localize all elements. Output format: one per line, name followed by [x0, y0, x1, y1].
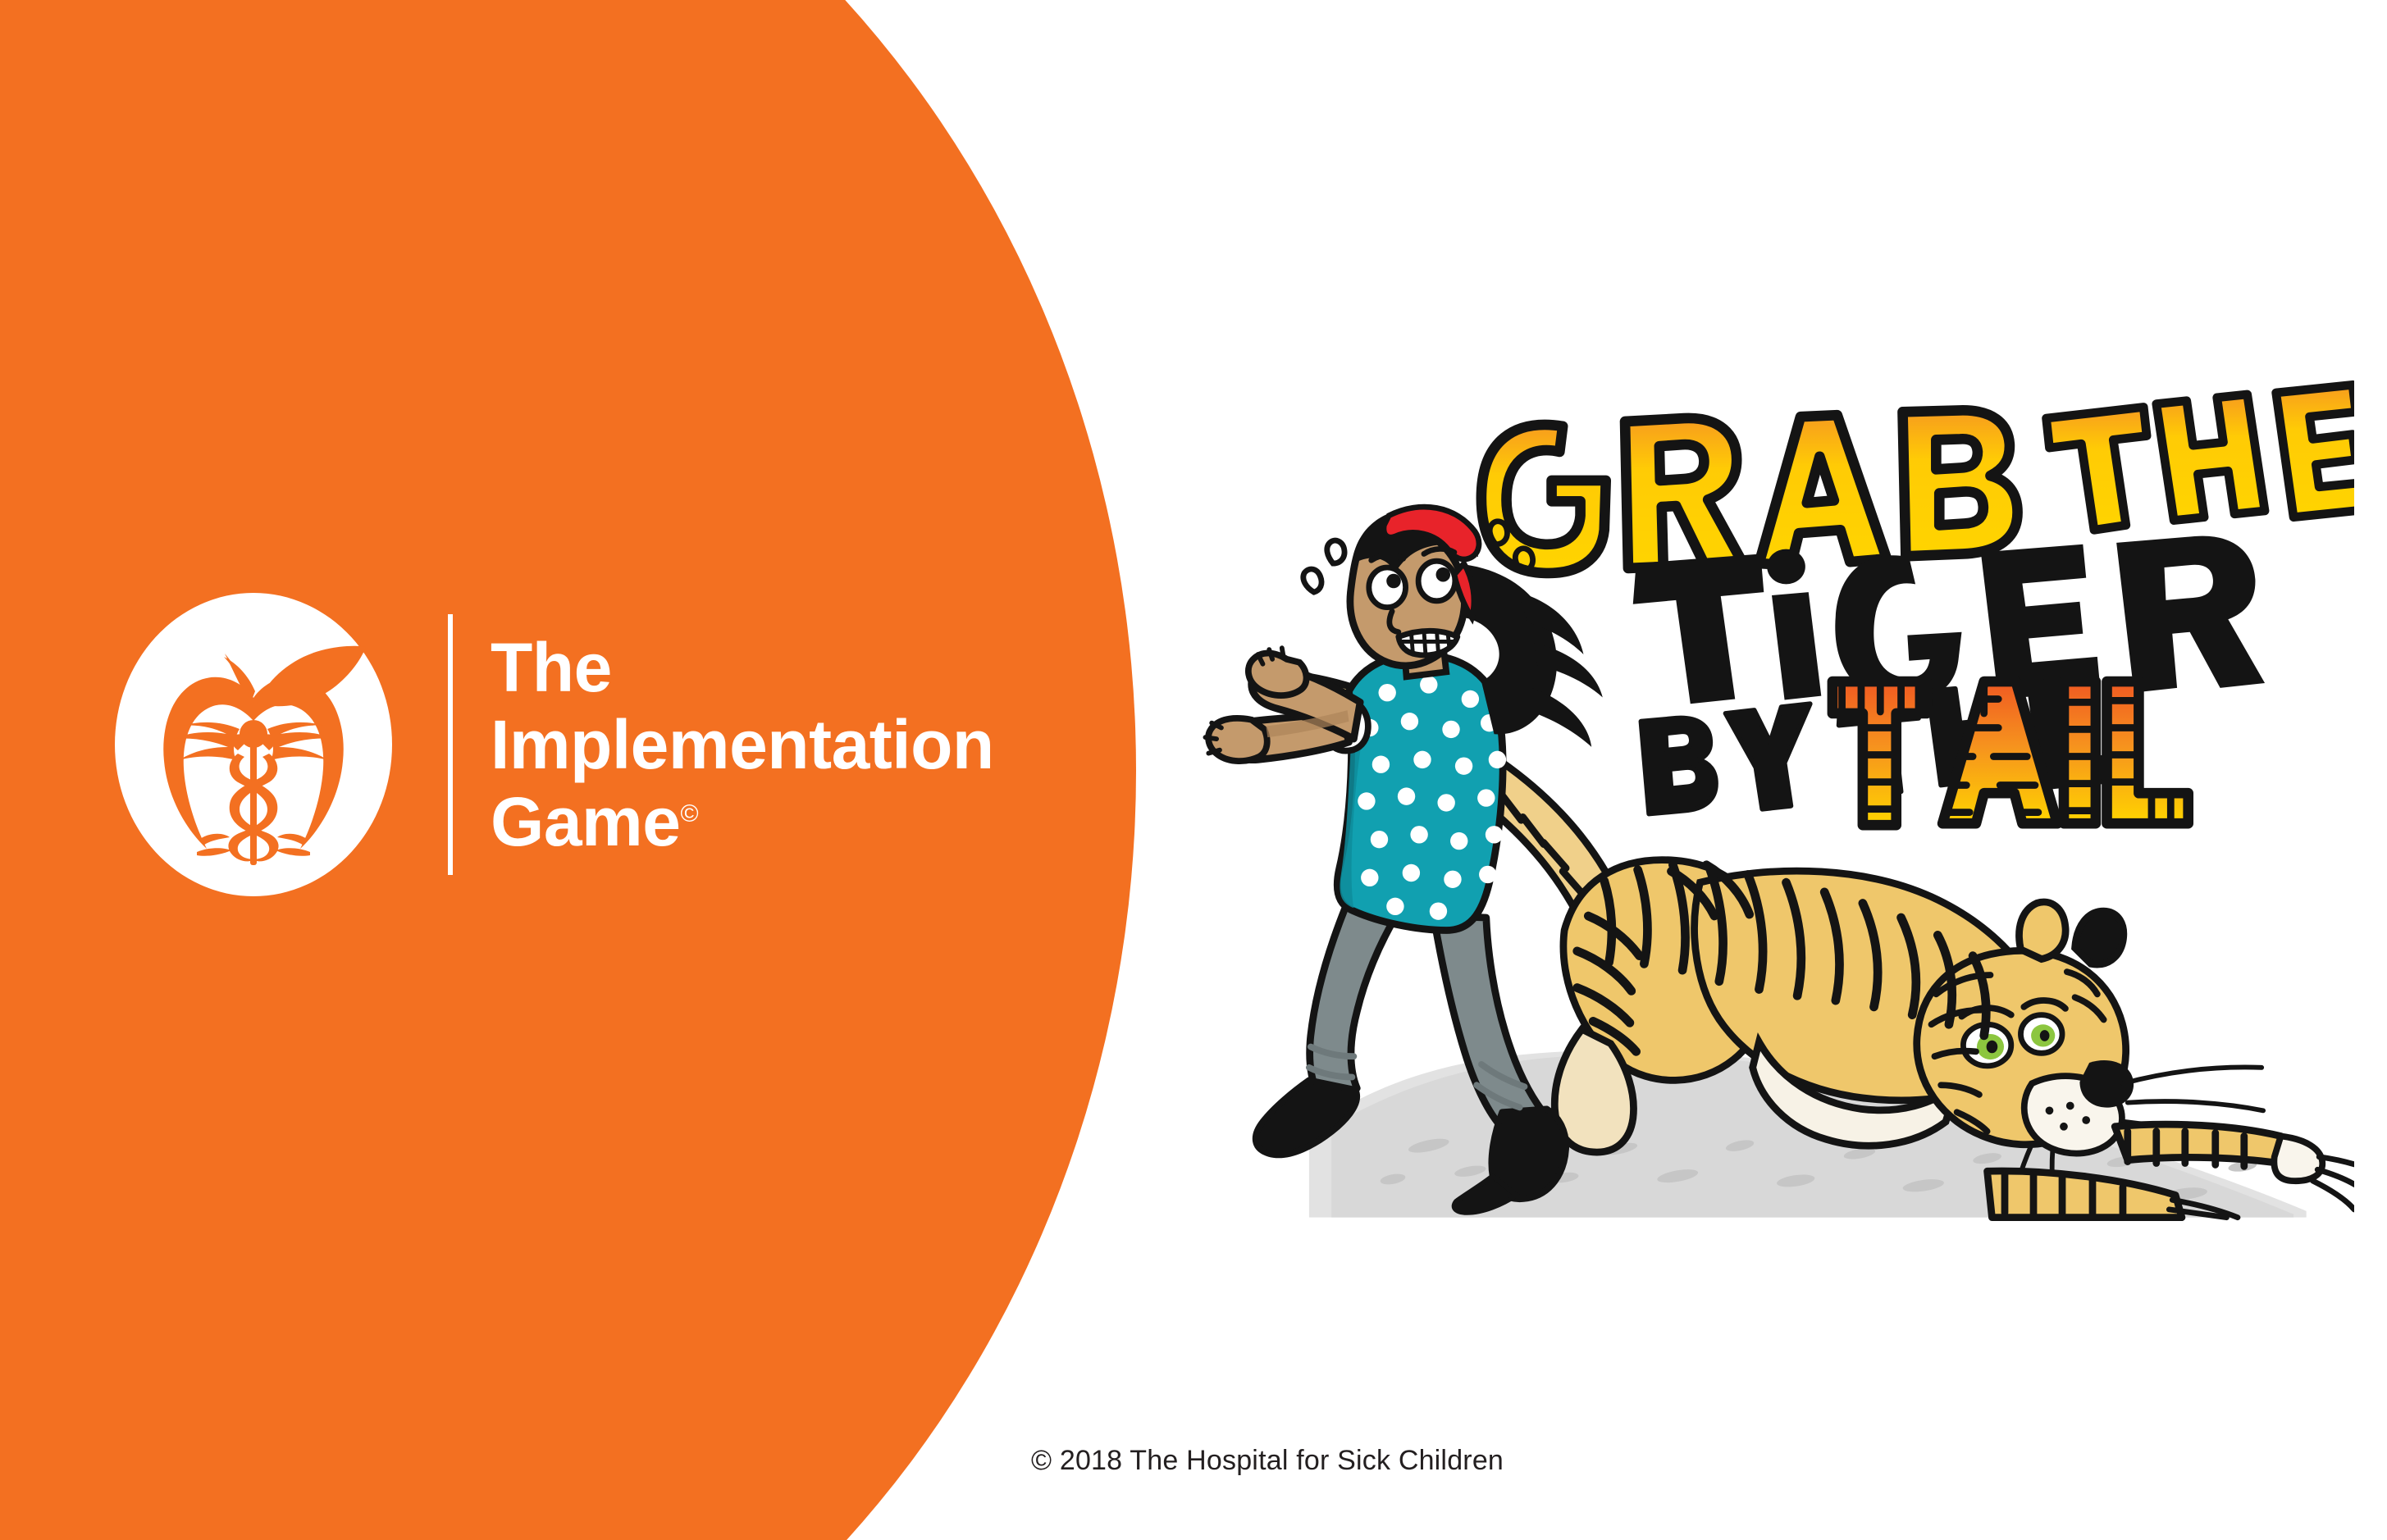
logo-wordmark: The Implementation Game©: [491, 629, 994, 860]
logo-line-3-text: Game: [491, 783, 680, 860]
registered-mark: ©: [680, 800, 698, 827]
apple-caduceus-logo-mark: [115, 593, 392, 896]
logo-divider-rule: [448, 614, 453, 875]
title-word-the-upper: [2047, 385, 2354, 530]
title-word-grab: [1481, 410, 2018, 573]
title-word-tail: [1832, 681, 2188, 825]
logo-line-3: Game©: [491, 783, 994, 860]
slide-canvas: The Implementation Game©: [0, 0, 2387, 1540]
logo-line-2: Implementation: [491, 706, 994, 783]
logo-line-1: The: [491, 629, 994, 706]
title-artwork: [1481, 385, 2354, 825]
copyright-notice: © 2018 The Hospital for Sick Children: [0, 1445, 2387, 1477]
tiger-tail-illustration: [1189, 312, 2354, 1230]
implementation-game-logo: The Implementation Game©: [115, 589, 1083, 900]
title-word-tiger: [1633, 536, 2265, 704]
copyright-text: © 2018 The Hospital for Sick Children: [1031, 1445, 1504, 1477]
